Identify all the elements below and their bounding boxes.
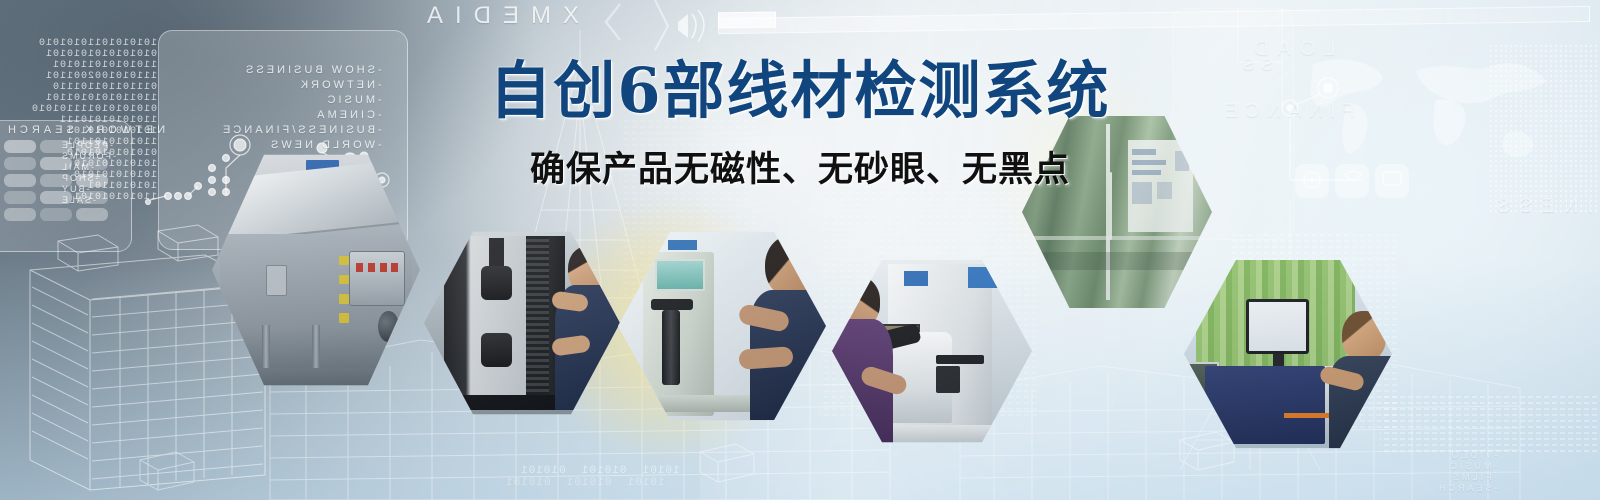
hud-key — [4, 208, 36, 221]
hex-shade — [1184, 256, 1392, 452]
hud-item-films: -FILMS — [1442, 472, 1498, 483]
page-subtitle: 确保产品无磁性、无砂眼、无黑点 — [0, 146, 1600, 194]
hex-shade — [832, 256, 1032, 446]
hud-key — [76, 208, 108, 221]
hex-shade — [618, 228, 826, 424]
hud-bottom-binary-2: 10101 010101 010101 — [505, 478, 665, 489]
hex-photo-spectrometer-station[interactable] — [1184, 256, 1392, 452]
hud-top-label: XMEDIA — [415, 2, 579, 30]
binary-line: 10101010110101010 — [38, 38, 157, 49]
hud-item-search: -SEARCH — [1436, 483, 1498, 494]
hud-bottom-right-menu: -VIDEO -MUSIC -FILMS -SEARCH — [1438, 450, 1498, 494]
hud-item-video: -VIDEO — [1438, 450, 1498, 461]
hex-shade — [424, 228, 620, 418]
progress-slider[interactable] — [718, 6, 1590, 34]
hex-photo-hardness-tester[interactable] — [618, 228, 826, 424]
hero-banner: XMEDIA NETWORK SEARCH -PEOPLE -FORUMS -M… — [0, 0, 1600, 500]
speaker-icon — [678, 10, 704, 42]
hex-photo-metallographic-microscope[interactable] — [832, 256, 1032, 446]
hex-photo-tensile-testing-machine[interactable] — [424, 228, 620, 418]
hud-business-label: INESS — [1488, 195, 1593, 218]
hud-item-music2: -MUSIC — [1444, 461, 1498, 472]
page-title: 自创6部线材检测系统 — [0, 54, 1600, 128]
title-block: 自创6部线材检测系统 确保产品无磁性、无砂眼、无黑点 — [0, 54, 1600, 194]
hud-key — [40, 208, 72, 221]
hud-bottom-binary: 10101 010101 010101 — [520, 466, 680, 477]
progress-slider-thumb[interactable] — [718, 12, 776, 29]
